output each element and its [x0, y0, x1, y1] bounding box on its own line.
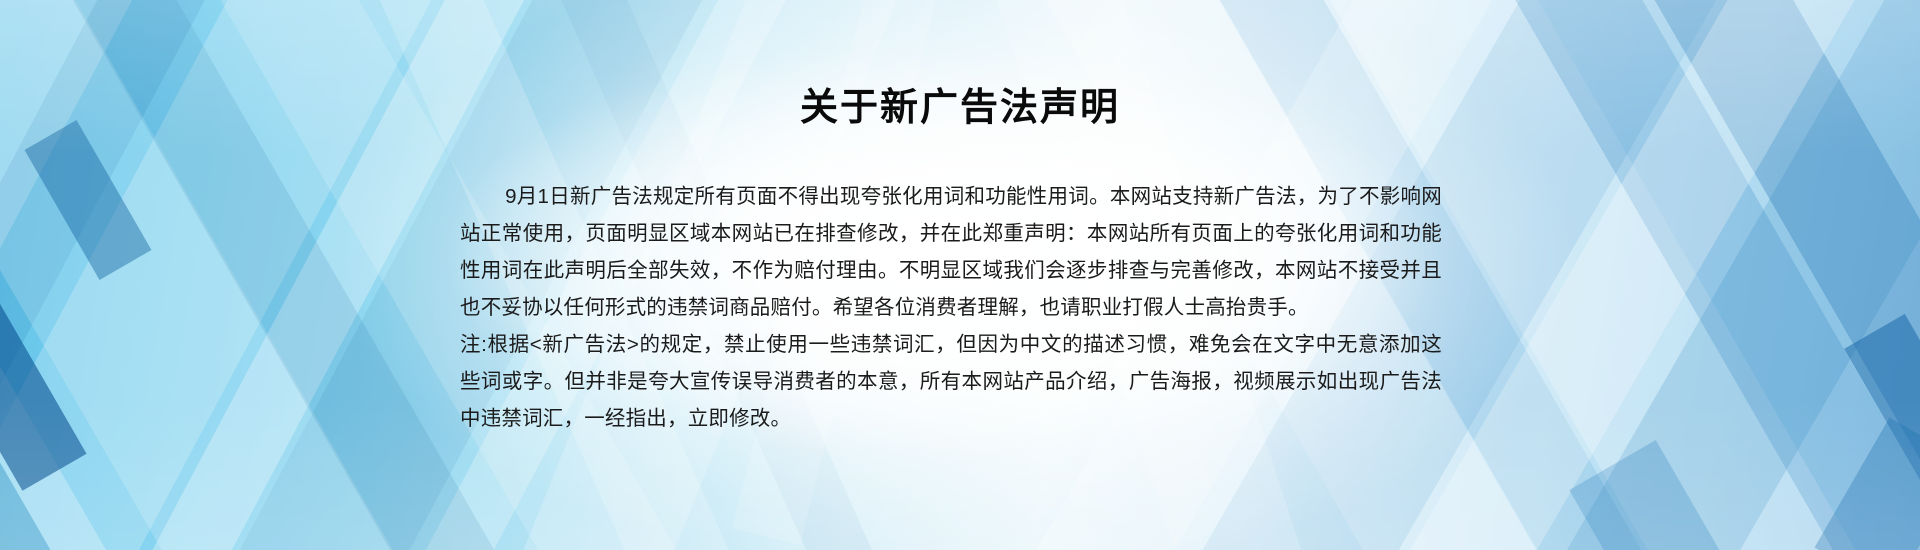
statement-body: 9月1日新广告法规定所有页面不得出现夸张化用词和功能性用词。本网站支持新广告法，… — [460, 178, 1442, 437]
statement-paragraph-1: 9月1日新广告法规定所有页面不得出现夸张化用词和功能性用词。本网站支持新广告法，… — [460, 178, 1442, 326]
page-title: 关于新广告法声明 — [0, 86, 1920, 132]
statement-paragraph-2: 注:根据<新广告法>的规定，禁止使用一些违禁词汇，但因为中文的描述习惯，难免会在… — [460, 326, 1442, 437]
banner-stage: 关于新广告法声明 9月1日新广告法规定所有页面不得出现夸张化用词和功能性用词。本… — [0, 0, 1920, 550]
banner-content: 关于新广告法声明 9月1日新广告法规定所有页面不得出现夸张化用词和功能性用词。本… — [0, 0, 1920, 550]
